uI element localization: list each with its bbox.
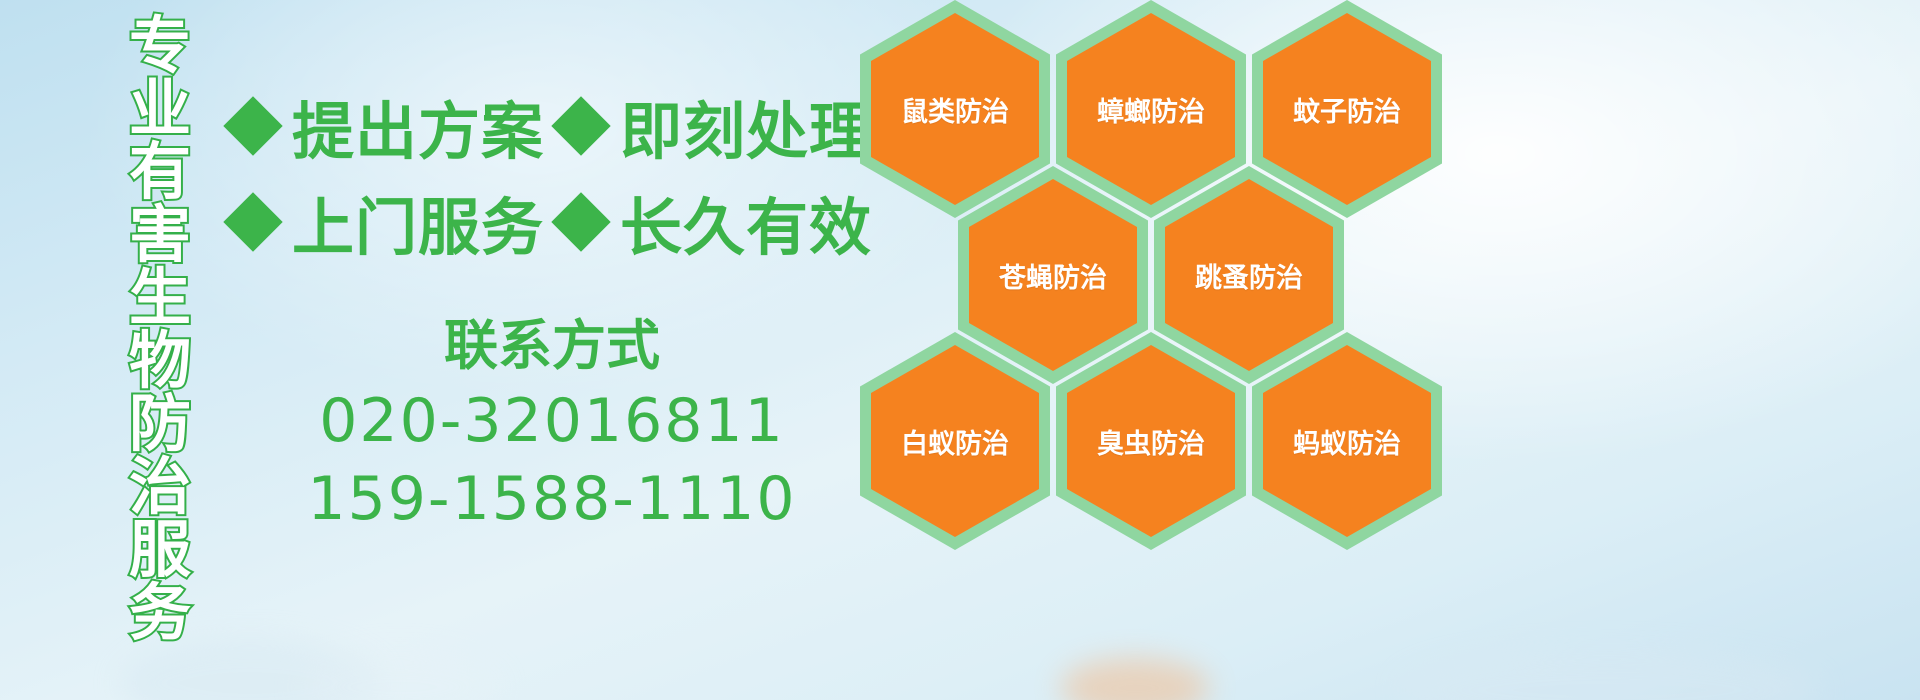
service-hex-label: 跳蚤防治 [1195, 256, 1303, 295]
contact-title: 联系方式 [232, 310, 872, 382]
vertical-headline-char: 服 [129, 518, 191, 581]
diamond-bullet-icon [223, 96, 282, 155]
feature-item: 长久有效 [560, 177, 872, 267]
feature-row: 提出方案 即刻处理 [232, 78, 872, 174]
vertical-headline-char: 害 [129, 203, 191, 266]
feature-row: 上门服务 长久有效 [232, 174, 872, 270]
vertical-headline: 专 业 有 害 生 物 防 治 服 务 [108, 14, 212, 674]
hex-inner: 苍蝇防治 [969, 179, 1137, 371]
service-hex-label: 苍蝇防治 [999, 256, 1107, 295]
promo-banner: 专 业 有 害 生 物 防 治 服 务 提出方案 即刻处理 上门服务 [0, 0, 1920, 700]
diamond-bullet-icon [223, 192, 282, 251]
service-hex-label: 蟑螂防治 [1097, 90, 1205, 129]
hex-inner: 臭虫防治 [1067, 345, 1235, 537]
vertical-headline-char: 业 [129, 77, 191, 140]
contact-phone-landline[interactable]: 020-32016811 [232, 382, 872, 460]
contact-phone-mobile[interactable]: 159-1588-1110 [232, 460, 872, 538]
hex-inner: 蚊子防治 [1263, 13, 1431, 205]
hex-inner: 白蚁防治 [871, 345, 1039, 537]
vertical-headline-char: 务 [129, 581, 191, 644]
service-hex-label: 鼠类防治 [901, 90, 1009, 129]
hex-inner: 蟑螂防治 [1067, 13, 1235, 205]
service-hex-label: 白蚁防治 [901, 422, 1009, 461]
vertical-headline-char: 生 [129, 266, 191, 329]
hex-inner: 蚂蚁防治 [1263, 345, 1431, 537]
feature-label: 上门服务 [292, 177, 544, 267]
vertical-headline-char: 专 [129, 14, 191, 77]
diamond-bullet-icon [551, 192, 610, 251]
feature-item: 上门服务 [232, 177, 544, 267]
service-hex-label: 臭虫防治 [1097, 422, 1205, 461]
vertical-headline-char: 防 [129, 392, 191, 455]
vertical-headline-char: 治 [129, 455, 191, 518]
hex-inner: 跳蚤防治 [1165, 179, 1333, 371]
decorative-blob [1060, 658, 1210, 700]
feature-item: 即刻处理 [560, 81, 872, 171]
feature-label: 即刻处理 [620, 81, 872, 171]
contact-block: 联系方式 020-32016811 159-1588-1110 [232, 310, 872, 538]
hex-inner: 鼠类防治 [871, 13, 1039, 205]
feature-item: 提出方案 [232, 81, 544, 171]
feature-label: 长久有效 [620, 177, 872, 267]
feature-label: 提出方案 [292, 81, 544, 171]
vertical-headline-char: 物 [129, 329, 191, 392]
feature-list: 提出方案 即刻处理 上门服务 长久有效 [232, 78, 872, 270]
service-hex-label: 蚊子防治 [1293, 90, 1401, 129]
diamond-bullet-icon [551, 96, 610, 155]
service-hex-label: 蚂蚁防治 [1293, 422, 1401, 461]
vertical-headline-char: 有 [129, 140, 191, 203]
service-hex-grid: 鼠类防治 蟑螂防治 蚊子防治 苍蝇防治 跳蚤防治 白蚁防治 [860, 0, 1460, 574]
decorative-blob [1400, 650, 1820, 700]
